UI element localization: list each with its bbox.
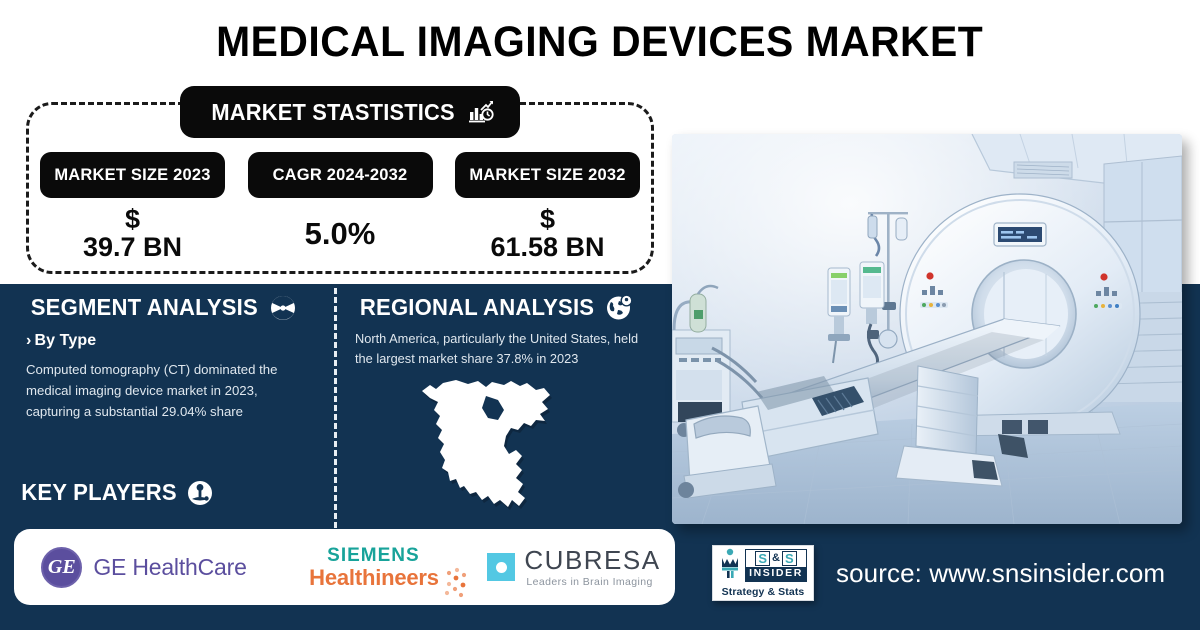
segment-subheading-text: By Type (34, 332, 96, 349)
market-statistics-badge-label: MARKET STASTISTICS (211, 99, 454, 126)
sns-insider-logo: S & S INSIDER Strategy & Stats (712, 545, 814, 601)
stat-value-cagr: 5.0% (248, 218, 433, 250)
globe-pin-icon (606, 294, 633, 321)
sns-letter-s2: S (782, 551, 797, 566)
source-row: S & S INSIDER Strategy & Stats source: w… (712, 545, 1165, 601)
infographic-root: MEDICAL IMAGING DEVICES MARKET MARKET ST… (0, 0, 1200, 630)
person-pin-circle-icon (187, 480, 213, 506)
segment-analysis-heading: SEGMENT ANALYSIS (26, 294, 296, 321)
regional-analysis-title: REGIONAL ANALYSIS (360, 294, 594, 321)
stat-label-market-size-2023: MARKET SIZE 2023 (40, 152, 225, 198)
regional-analysis-heading: REGIONAL ANALYSIS (355, 294, 633, 321)
segment-subheading: ›By Type (26, 332, 96, 350)
cubresa-dot-icon (496, 562, 507, 573)
stat-cell-market-size-2023: MARKET SIZE 2023 $ 39.7 BN (40, 152, 225, 261)
logo-ge-healthcare: GE GE HealthCare (14, 529, 274, 605)
sns-tagline: Strategy & Stats (722, 586, 805, 598)
logo-ge-healthcare-text: GE HealthCare (93, 554, 246, 581)
source-url-text: source: www.snsinsider.com (836, 558, 1165, 589)
segment-analysis-body: Computed tomography (CT) dominated the m… (26, 360, 306, 423)
key-players-card: GE GE HealthCare SIEMENS Healthineers (14, 529, 675, 605)
segment-analysis-title: SEGMENT ANALYSIS (31, 294, 258, 321)
logo-cubresa-tagline: Leaders in Brain Imaging (526, 577, 660, 588)
market-statistics-badge: MARKET STASTISTICS (180, 86, 520, 138)
logo-cubresa: CUBRESA Leaders in Brain Imaging (474, 529, 674, 605)
page-title-text: MEDICAL IMAGING DEVICES MARKET (216, 18, 983, 67)
sns-insider-text: INSIDER (746, 567, 806, 581)
regional-analysis-body: North America, particularly the United S… (355, 329, 647, 369)
key-players-heading: KEY PLAYERS (18, 479, 213, 506)
stat-label-cagr: CAGR 2024-2032 (248, 152, 433, 198)
logo-siemens-healthineers: SIEMENS Healthineers (274, 529, 474, 605)
cubresa-mark-icon (487, 553, 515, 581)
chevron-right-icon: › (26, 332, 31, 349)
sns-insider-wordmark: S & S INSIDER (745, 549, 807, 582)
sns-letter-s1: S (755, 551, 770, 566)
sns-king-icon (719, 548, 741, 583)
ge-monogram-icon: GE (41, 547, 82, 588)
chart-growth-icon (469, 100, 495, 124)
stat-value-market-size-2023: $ 39.7 BN (40, 206, 225, 261)
stat-cell-cagr: CAGR 2024-2032 5.0% (248, 152, 433, 261)
north-america-map-icon (412, 376, 602, 531)
logo-siemens-line1: SIEMENS (327, 546, 439, 565)
section-divider (334, 288, 337, 528)
sns-ampersand: & (772, 553, 780, 564)
key-players-title: KEY PLAYERS (21, 479, 177, 506)
pie-chart-circle-icon (270, 295, 296, 321)
market-statistics-cells: MARKET SIZE 2023 $ 39.7 BN CAGR 2024-203… (40, 152, 640, 261)
page-title: MEDICAL IMAGING DEVICES MARKET (0, 18, 1200, 67)
logo-siemens-line2: Healthineers (309, 567, 439, 589)
ct-scanner-photo (672, 134, 1182, 524)
logo-cubresa-text: CUBRESA (524, 545, 660, 575)
stat-label-market-size-2032: MARKET SIZE 2032 (455, 152, 640, 198)
stat-cell-market-size-2032: MARKET SIZE 2032 $ 61.58 BN (455, 152, 640, 261)
stat-value-market-size-2032: $ 61.58 BN (455, 206, 640, 261)
